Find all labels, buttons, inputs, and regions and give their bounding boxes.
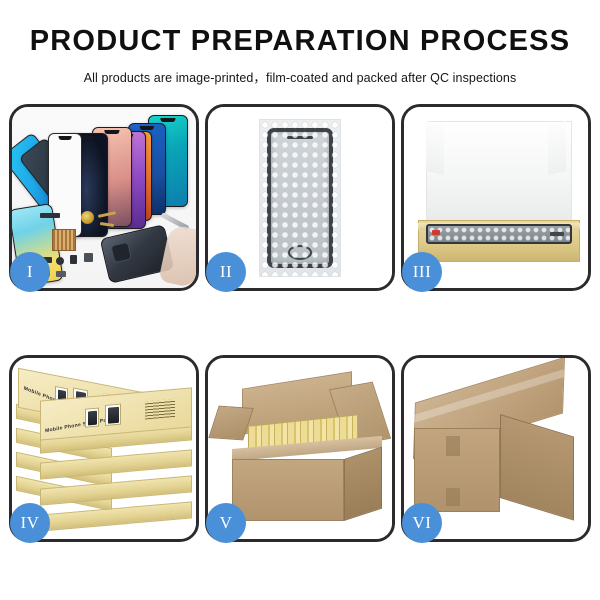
foam-flap-right <box>548 121 566 175</box>
bubble-wrap-sheet <box>259 119 341 277</box>
page-subtitle: All products are image-printed，film-coat… <box>0 67 600 86</box>
process-step-3: III <box>401 104 591 291</box>
page-title: PRODUCT PREPARATION PROCESS <box>0 26 600 58</box>
wrapped-screen-in-box <box>426 224 572 244</box>
stacked-box <box>40 449 192 479</box>
connector-grid-part <box>52 229 76 251</box>
foam-flap-left <box>426 121 444 175</box>
carton-tab <box>446 436 460 456</box>
box-label-lines <box>145 399 175 420</box>
step-badge-3: III <box>402 252 442 292</box>
small-part <box>40 213 60 218</box>
carton-side-face <box>344 447 382 521</box>
product-process-page: PRODUCT PREPARATION PROCESS All products… <box>0 0 600 600</box>
stacked-box <box>40 475 192 505</box>
carton-tab <box>446 488 460 506</box>
step-badge-4: IV <box>10 503 50 543</box>
phone-notch-icon <box>140 126 154 130</box>
carton-flap-left <box>208 406 253 441</box>
sealed-carton-side-face <box>500 414 574 521</box>
page-header: PRODUCT PREPARATION PROCESS All products… <box>0 0 600 86</box>
coil-part-icon <box>81 211 94 224</box>
process-step-6: VI <box>401 355 591 542</box>
wrapped-phone-screen <box>267 128 333 268</box>
process-step-4: Mobile Phone Spare Parts Mobile Phone Sp… <box>9 355 199 542</box>
small-part <box>56 271 66 277</box>
step-badge-5: V <box>206 503 246 543</box>
small-part <box>70 255 77 264</box>
step-badge-1: I <box>10 252 50 292</box>
box-label-screen-image <box>85 407 99 427</box>
stacked-box <box>40 501 192 531</box>
phone-notch-icon <box>160 118 175 122</box>
phone-notch-icon <box>104 130 119 134</box>
step-badge-2: II <box>206 252 246 292</box>
process-step-1: I <box>9 104 199 291</box>
box-label-text: Mobile Phone Spare Parts <box>45 416 114 434</box>
small-part <box>84 253 93 262</box>
box-label-screen-image <box>105 404 121 426</box>
process-step-2: II <box>205 104 395 291</box>
small-part <box>56 257 64 265</box>
carton-front-face <box>232 459 344 521</box>
step-badge-6: VI <box>402 503 442 543</box>
process-step-grid: I II III <box>9 104 591 542</box>
phone-notch-icon <box>59 136 72 140</box>
process-step-5: V <box>205 355 395 542</box>
